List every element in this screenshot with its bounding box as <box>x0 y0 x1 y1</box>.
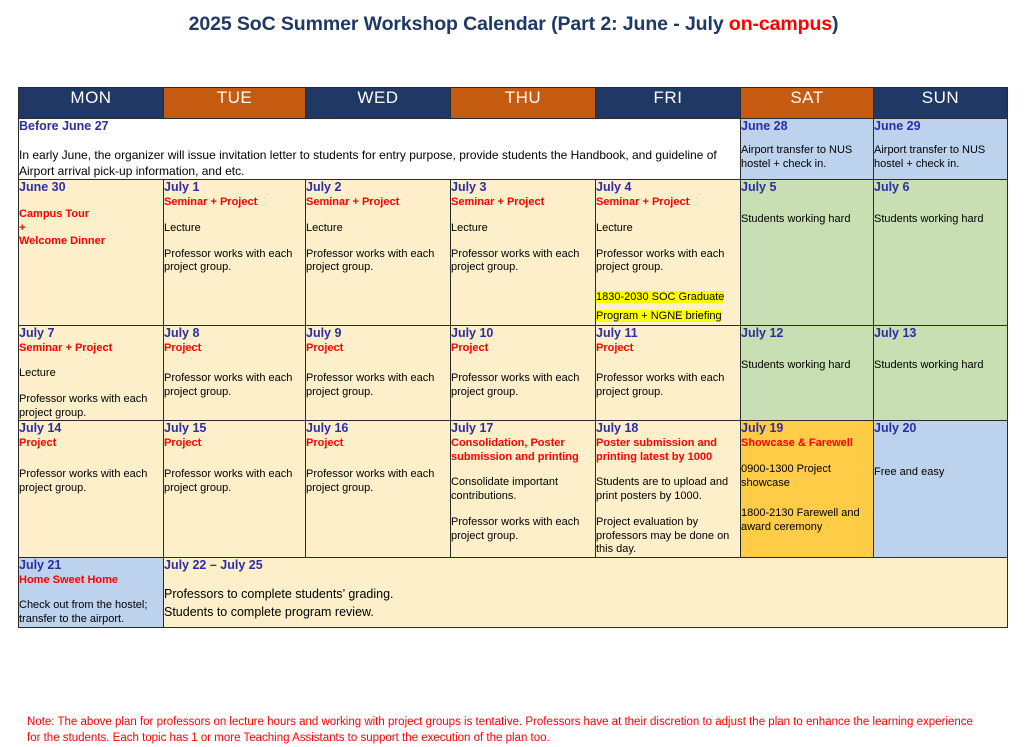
day-date-label: July 5 <box>741 180 873 195</box>
day-cell-july-21[interactable]: July 21 Home Sweet Home Check out from t… <box>19 558 164 628</box>
day-subtitle-line-3: Welcome Dinner <box>19 235 163 248</box>
day-cell-july-10[interactable]: July 10 Project Professor works with eac… <box>451 325 596 421</box>
day-subtitle: Seminar + Project <box>596 196 740 209</box>
day-date-label: July 6 <box>874 180 1007 195</box>
day-date-label: July 22 – July 25 <box>164 558 1007 573</box>
day-cell-july-4[interactable]: July 4 Seminar + Project Lecture Profess… <box>596 180 741 325</box>
day-date-label: July 18 <box>596 421 740 436</box>
day-body-text: In early June, the organizer will issue … <box>19 147 740 179</box>
day-cell-july-5[interactable]: July 5 Students working hard <box>741 180 874 325</box>
day-body-line-2: Professor works with each project group. <box>596 372 740 400</box>
day-body-line-1: Lecture <box>164 222 305 236</box>
calendar-page: 2025 SoC Summer Workshop Calendar (Part … <box>0 0 1027 745</box>
day-body-line-2: Professor works with each project group. <box>164 372 305 400</box>
day-date-label: July 4 <box>596 180 740 195</box>
day-body-line-2: Professor works with each project group. <box>164 468 305 496</box>
day-body-line-1: Students are to upload and print posters… <box>596 476 740 504</box>
weekday-header-sat: SAT <box>741 88 874 119</box>
day-cell-july-6[interactable]: July 6 Students working hard <box>874 180 1008 325</box>
day-body-line-2: Professor works with each project group. <box>306 248 450 276</box>
weekday-header-fri: FRI <box>596 88 741 119</box>
day-cell-july-16[interactable]: July 16 Project Professor works with eac… <box>306 421 451 558</box>
day-body-line-2: 1800-2130 Farewell and award ceremony <box>741 507 873 535</box>
day-cell-july-20[interactable]: July 20 Free and easy <box>874 421 1008 558</box>
day-date-label: July 14 <box>19 421 163 436</box>
calendar-week-row-1: Before June 27 In early June, the organi… <box>19 119 1008 180</box>
page-title-tail: ) <box>832 13 838 35</box>
day-subtitle-line-1: Campus Tour <box>19 208 163 221</box>
day-cell-june-28[interactable]: June 28 Airport transfer to NUS hostel +… <box>741 119 874 180</box>
day-cell-july-18[interactable]: July 18 Poster submission and printing l… <box>596 421 741 558</box>
day-body-line-1: Lecture <box>451 222 595 236</box>
day-date-label: July 2 <box>306 180 450 195</box>
day-subtitle: Project <box>306 437 450 450</box>
day-date-label: July 3 <box>451 180 595 195</box>
day-date-label: July 20 <box>874 421 1007 436</box>
day-body-line-1: Professors to complete students’ grading… <box>164 586 1007 604</box>
weekday-header-tue: TUE <box>164 88 306 119</box>
day-body-line-2: Project evaluation by professors may be … <box>596 516 740 557</box>
page-title: 2025 SoC Summer Workshop Calendar (Part … <box>189 13 839 35</box>
calendar-week-row-4: July 14 Project Professor works with eac… <box>19 421 1008 558</box>
page-title-bar: 2025 SoC Summer Workshop Calendar (Part … <box>0 13 1027 36</box>
weekday-header-thu: THU <box>451 88 596 119</box>
day-cell-july-11[interactable]: July 11 Project Professor works with eac… <box>596 325 741 421</box>
weekday-header-row: MON TUE WED THU FRI SAT SUN <box>19 88 1008 119</box>
day-cell-june-30[interactable]: June 30 Campus Tour + Welcome Dinner <box>19 180 164 325</box>
day-date-label: June 29 <box>874 119 1007 134</box>
day-cell-july-12[interactable]: July 12 Students working hard <box>741 325 874 421</box>
day-body-line-2: Professor works with each project group. <box>596 248 740 276</box>
day-body-line-1: Lecture <box>596 222 740 236</box>
day-cell-before-june-27[interactable]: Before June 27 In early June, the organi… <box>19 119 741 180</box>
day-subtitle: Seminar + Project <box>164 196 305 209</box>
day-date-label: July 13 <box>874 326 1007 341</box>
day-highlight-note: 1830-2030 SOC Graduate Program + NGNE br… <box>596 291 724 322</box>
day-subtitle: Project <box>19 437 163 450</box>
page-title-main: 2025 SoC Summer Workshop Calendar (Part … <box>189 13 729 35</box>
day-highlight-note-wrapper: 1830-2030 SOC Graduate Program + NGNE br… <box>596 287 740 325</box>
day-body-line-2: Professor works with each project group. <box>19 393 163 421</box>
day-cell-july-8[interactable]: July 8 Project Professor works with each… <box>164 325 306 421</box>
day-body-line-2: Professor works with each project group. <box>164 248 305 276</box>
day-body-line-1: Lecture <box>19 367 163 381</box>
page-title-accent: on-campus <box>729 13 832 35</box>
day-body-line-2: Students to complete program review. <box>164 604 1007 622</box>
day-cell-july-22-to-25[interactable]: July 22 – July 25 Professors to complete… <box>164 558 1008 628</box>
calendar-week-row-5: July 21 Home Sweet Home Check out from t… <box>19 558 1008 628</box>
day-cell-june-29[interactable]: June 29 Airport transfer to NUS hostel +… <box>874 119 1008 180</box>
day-body-line-2: Professor works with each project group. <box>306 468 450 496</box>
day-cell-july-17[interactable]: July 17 Consolidation, Poster submission… <box>451 421 596 558</box>
day-date-label: July 10 <box>451 326 595 341</box>
weekday-header-mon: MON <box>19 88 164 119</box>
day-body-line-2: Professor works with each project group. <box>451 248 595 276</box>
day-date-label: July 9 <box>306 326 450 341</box>
day-date-label: Before June 27 <box>19 119 740 134</box>
day-cell-july-7[interactable]: July 7 Seminar + Project Lecture Profess… <box>19 325 164 421</box>
day-body-text: Free and easy <box>874 466 1007 480</box>
day-cell-july-14[interactable]: July 14 Project Professor works with eac… <box>19 421 164 558</box>
day-date-label: June 28 <box>741 119 873 134</box>
calendar-week-row-3: July 7 Seminar + Project Lecture Profess… <box>19 325 1008 421</box>
day-body-line-1: Consolidate important contributions. <box>451 476 595 504</box>
day-body-line-2: Professor works with each project group. <box>19 468 163 496</box>
day-subtitle: Seminar + Project <box>451 196 595 209</box>
day-cell-july-15[interactable]: July 15 Project Professor works with eac… <box>164 421 306 558</box>
day-date-label: July 1 <box>164 180 305 195</box>
day-date-label: June 30 <box>19 180 163 195</box>
day-date-label: July 15 <box>164 421 305 436</box>
day-subtitle: Project <box>164 437 305 450</box>
day-subtitle: Project <box>451 342 595 355</box>
day-subtitle: Poster submission and printing latest by… <box>596 437 740 464</box>
day-subtitle: Consolidation, Poster submission and pri… <box>451 437 595 464</box>
day-cell-july-13[interactable]: July 13 Students working hard <box>874 325 1008 421</box>
day-date-label: July 11 <box>596 326 740 341</box>
day-body-text: Students working hard <box>741 213 873 227</box>
day-cell-july-1[interactable]: July 1 Seminar + Project Lecture Profess… <box>164 180 306 325</box>
day-body-text: Students working hard <box>874 359 1007 373</box>
calendar-week-row-2: June 30 Campus Tour + Welcome Dinner Jul… <box>19 180 1008 325</box>
day-date-label: July 8 <box>164 326 305 341</box>
day-date-label: July 12 <box>741 326 873 341</box>
day-body-text: Check out from the hostel; transfer to t… <box>19 599 163 627</box>
day-body-text: Airport transfer to NUS hostel + check i… <box>741 144 873 172</box>
day-date-label: July 7 <box>19 326 163 341</box>
day-date-label: July 19 <box>741 421 873 436</box>
day-body-line-2: Professor works with each project group. <box>451 372 595 400</box>
footer-note: Note: The above plan for professors on l… <box>27 714 987 747</box>
day-body-line-1: Lecture <box>306 222 450 236</box>
day-subtitle: Project <box>306 342 450 355</box>
day-subtitle: Project <box>596 342 740 355</box>
day-date-label: July 17 <box>451 421 595 436</box>
day-body-text: Airport transfer to NUS hostel + check i… <box>874 144 1007 172</box>
day-cell-july-9[interactable]: July 9 Project Professor works with each… <box>306 325 451 421</box>
day-subtitle: Showcase & Farewell <box>741 437 873 450</box>
day-body-text: Students working hard <box>874 213 1007 227</box>
day-date-label: July 16 <box>306 421 450 436</box>
day-body-text: Students working hard <box>741 359 873 373</box>
day-cell-july-2[interactable]: July 2 Seminar + Project Lecture Profess… <box>306 180 451 325</box>
day-body-line-1: 0900-1300 Project showcase <box>741 463 873 491</box>
day-subtitle: Seminar + Project <box>306 196 450 209</box>
day-date-label: July 21 <box>19 558 163 573</box>
day-body-line-2: Professor works with each project group. <box>306 372 450 400</box>
day-body-line-2: Professor works with each project group. <box>451 516 595 544</box>
weekday-header-sun: SUN <box>874 88 1008 119</box>
day-subtitle: Home Sweet Home <box>19 574 163 587</box>
calendar-table: MON TUE WED THU FRI SAT SUN Before June … <box>18 87 1008 628</box>
day-subtitle: Project <box>164 342 305 355</box>
day-subtitle: Seminar + Project <box>19 342 163 355</box>
weekday-header-wed: WED <box>306 88 451 119</box>
day-cell-july-19[interactable]: July 19 Showcase & Farewell 0900-1300 Pr… <box>741 421 874 558</box>
day-subtitle-line-2: + <box>19 222 163 235</box>
day-cell-july-3[interactable]: July 3 Seminar + Project Lecture Profess… <box>451 180 596 325</box>
calendar-table-wrapper: MON TUE WED THU FRI SAT SUN Before June … <box>18 87 1007 628</box>
